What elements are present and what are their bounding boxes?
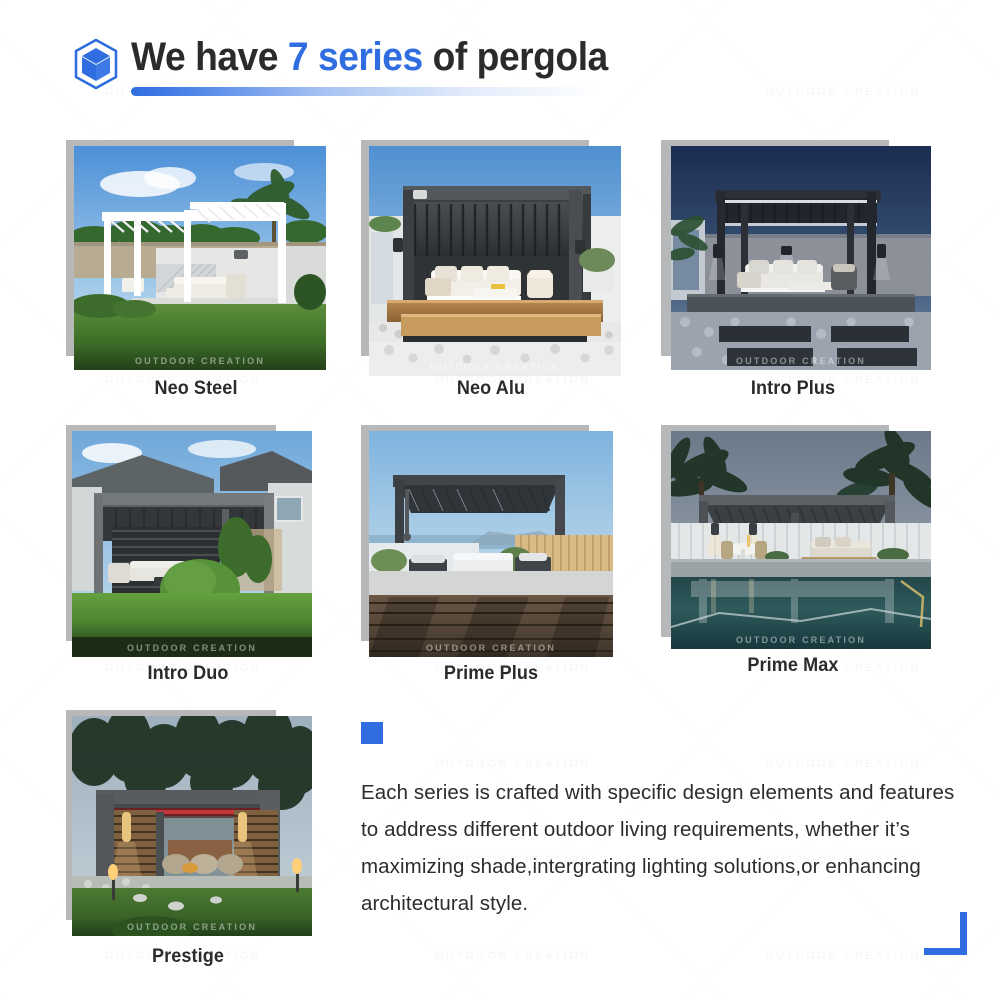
series-label: Neo Steel (73, 378, 320, 400)
series-card-neo-alu[interactable]: OUTDOOR CREATION Neo Alu (361, 140, 621, 412)
series-photo: OUTDOOR CREATION (72, 716, 312, 936)
series-photo: OUTDOOR CREATION (369, 146, 621, 376)
series-photo: OUTDOOR CREATION (72, 431, 312, 657)
title-underline-bar (131, 87, 601, 96)
series-label: Prestige (65, 946, 312, 968)
page-title-pre: We have (131, 35, 288, 79)
page-title-accent: 7 series (288, 35, 423, 79)
series-label: Neo Alu (368, 378, 615, 400)
series-label: Intro Plus (660, 378, 926, 400)
series-card-prime-plus[interactable]: OUTDOOR CREATION Prime Plus (361, 425, 621, 697)
series-label: Prime Plus (368, 663, 615, 685)
series-card-prime-max[interactable]: OUTDOOR CREATION Prime Max (661, 425, 941, 697)
series-card-neo-steel[interactable]: OUTDOOR CREATION Neo Steel (66, 140, 326, 412)
series-label: Prime Max (660, 655, 926, 677)
page-root: OUTDOOR CREATIONOUTDOOR CREATIONOUTDOOR … (0, 0, 1000, 1000)
series-card-intro-duo[interactable]: OUTDOOR CREATION Intro Duo (66, 425, 326, 697)
series-photo: OUTDOOR CREATION (74, 146, 326, 370)
series-photo: OUTDOOR CREATION (671, 431, 931, 649)
description-text: Each series is crafted with specific des… (361, 774, 961, 922)
page-title: We have 7 series of pergola (131, 33, 608, 81)
cube-hexagon-logo-icon (72, 38, 120, 90)
series-photo: OUTDOOR CREATION (671, 146, 931, 370)
page-header: We have 7 series of pergola (0, 0, 1000, 120)
series-label: Intro Duo (65, 663, 312, 685)
series-card-intro-plus[interactable]: OUTDOOR CREATION Intro Plus (661, 140, 941, 412)
corner-bracket-decoration (924, 912, 967, 955)
series-card-prestige[interactable]: OUTDOOR CREATION Prestige (66, 710, 326, 982)
description-marker-square (361, 722, 383, 744)
series-photo: OUTDOOR CREATION (369, 431, 613, 657)
description-block: Each series is crafted with specific des… (361, 722, 961, 922)
page-title-post: of pergola (423, 35, 608, 79)
